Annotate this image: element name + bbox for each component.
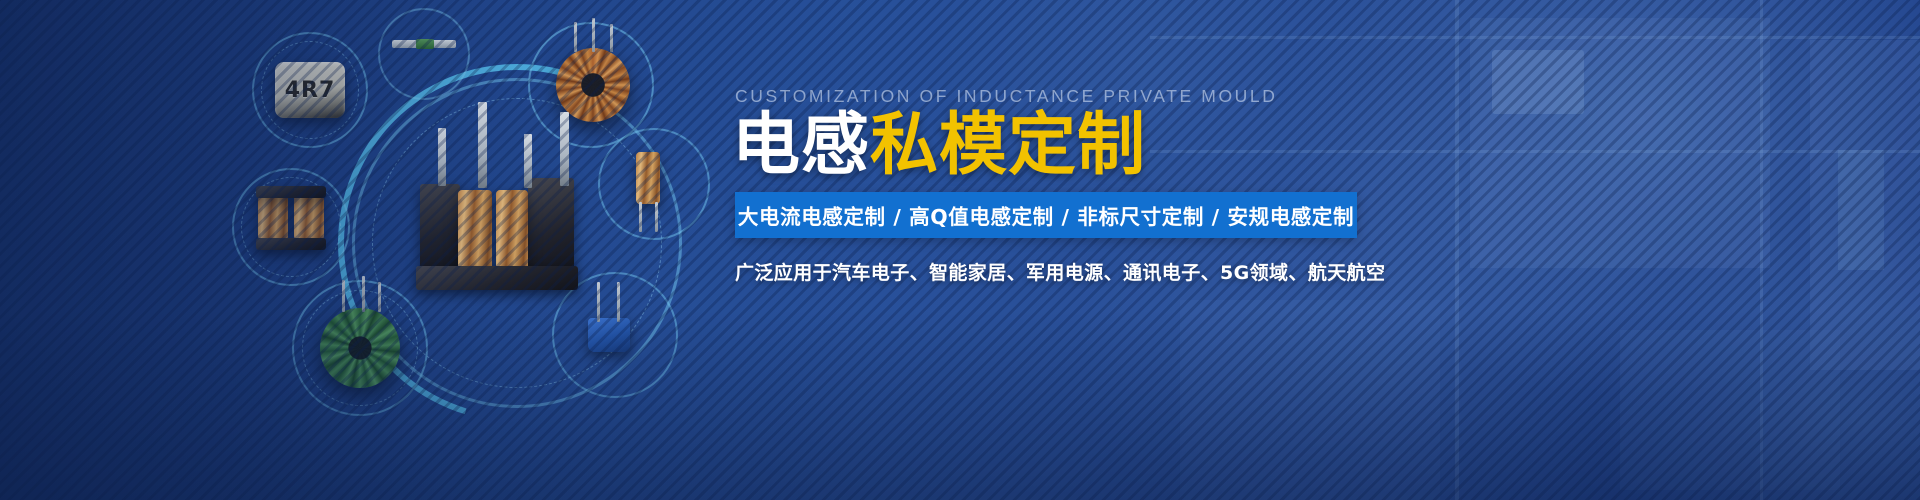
banner-content: CUSTOMIZATION OF INDUCTANCE PRIVATE MOUL… xyxy=(735,0,1920,500)
service-tag-bar-text: 大电流电感定制 / 高Q值电感定制 / 非标尺寸定制 / 安规电感定制 xyxy=(738,200,1354,230)
page-title: 电感私模定制 xyxy=(732,112,1146,180)
promo-banner: 4R7 xyxy=(0,0,1920,500)
service-tag-bar[interactable]: 大电流电感定制 / 高Q值电感定制 / 非标尺寸定制 / 安规电感定制 xyxy=(735,192,1357,238)
headline-yellow-part: 私模定制 xyxy=(870,106,1146,185)
eyebrow-english-subtitle: CUSTOMIZATION OF INDUCTANCE PRIVATE MOUL… xyxy=(735,86,1278,107)
application-description: 广泛应用于汽车电子、智能家居、军用电源、通讯电子、5G领域、航天航空 xyxy=(735,258,1385,285)
headline-white-part: 电感 xyxy=(732,106,870,185)
